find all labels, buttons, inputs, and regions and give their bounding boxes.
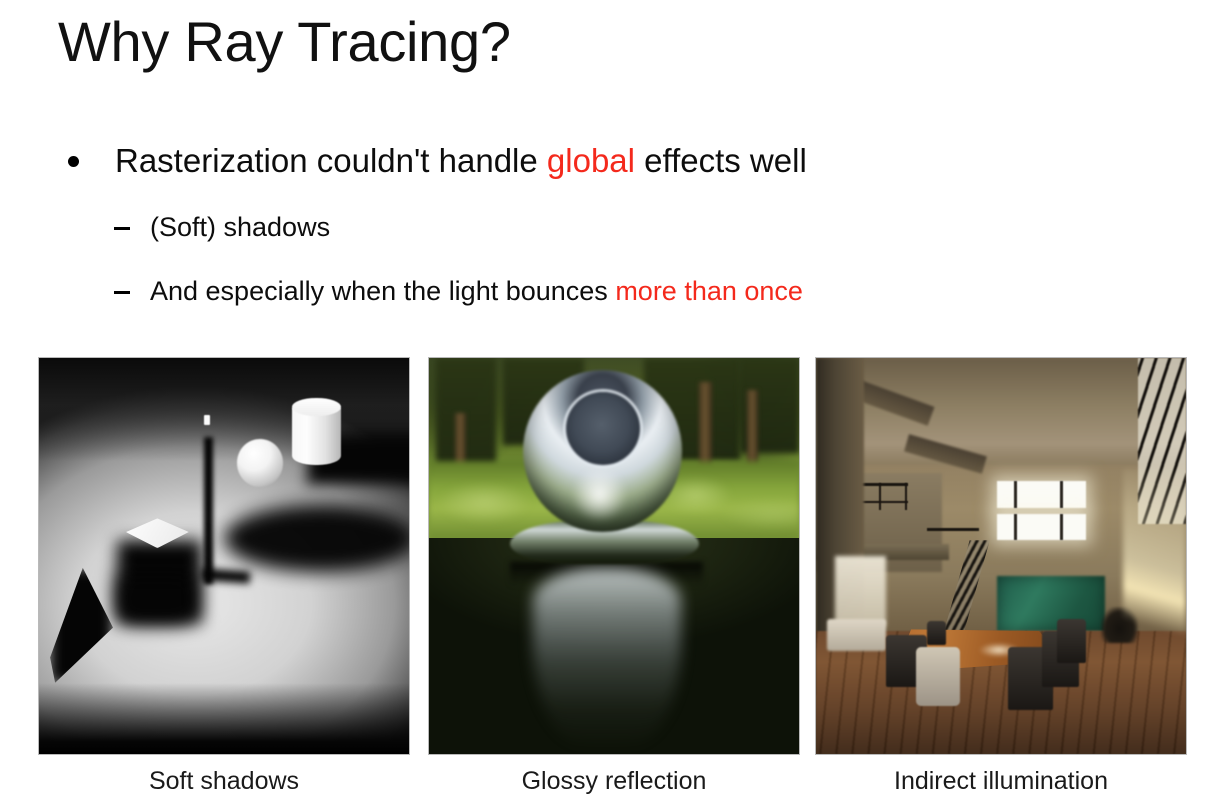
figure-caption: Indirect illumination: [815, 767, 1187, 796]
cylinder-top-face: [292, 398, 340, 416]
sphere-object: [237, 439, 283, 487]
scene-vignette-bottom: [39, 683, 409, 754]
bullet-list: Rasterization couldn't handle global eff…: [0, 140, 1224, 309]
bullet-text-after: effects well: [635, 142, 807, 179]
sphere-porthole: [566, 392, 640, 465]
window-mullion: [1014, 481, 1017, 509]
page-title: Why Ray Tracing?: [58, 8, 511, 75]
figure-caption: Soft shadows: [38, 767, 410, 796]
window-mullion: [1014, 514, 1017, 540]
sub-bullet-text-before: (Soft) shadows: [150, 212, 330, 242]
sphere-shadow: [224, 505, 410, 572]
bullet-dot-icon: [68, 156, 79, 167]
sofa: [827, 619, 886, 651]
cylinder-object: [292, 408, 340, 465]
bullet-item-sub-2: And especially when the light bounces mo…: [0, 275, 1224, 309]
dash-marker-icon: [114, 227, 130, 230]
figure-indirect-illumination: Indirect illumination: [815, 357, 1187, 796]
bullet-item-sub-1: (Soft) shadows: [0, 211, 1224, 245]
figure-glossy-reflection: Glossy reflection: [428, 357, 800, 796]
figure-image-indirect-illumination: [815, 357, 1187, 755]
railing-post: [879, 483, 882, 511]
bullet-item-primary: Rasterization couldn't handle global eff…: [0, 140, 1224, 181]
post-shadow: [204, 437, 214, 584]
figure-caption: Glossy reflection: [428, 767, 800, 796]
office-chair: [927, 621, 946, 645]
figure-image-soft-shadows: [38, 357, 410, 755]
tree-canopy: [436, 358, 495, 477]
sunlight-shaft: [1123, 469, 1186, 691]
curtain: [835, 556, 887, 627]
green-wall-panel: [997, 576, 1104, 631]
clerestory-window: [997, 481, 1086, 509]
sphere-reflection: [533, 568, 681, 750]
sub-bullet-text-before: And especially when the light bounces: [150, 276, 615, 306]
clerestory-window: [997, 514, 1086, 540]
concrete-ceiling: [816, 358, 1186, 465]
post-object: [204, 415, 210, 425]
figure-soft-shadows: Soft shadows: [38, 357, 410, 796]
office-chair: [916, 647, 960, 706]
window-mullion: [1060, 514, 1063, 540]
cube-shadow-soft: [117, 576, 195, 624]
office-chair: [1057, 619, 1087, 663]
figure-image-glossy-reflection: [428, 357, 800, 755]
dash-marker-icon: [114, 291, 130, 294]
railing-post: [905, 483, 908, 511]
sphere-highlight: [570, 469, 629, 520]
bullet-text-highlight: global: [547, 142, 635, 179]
upper-railing: [927, 528, 979, 531]
bullet-text-before: Rasterization couldn't handle: [115, 142, 547, 179]
sub-bullet-text-highlight: more than once: [615, 276, 803, 306]
window-mullion: [1060, 481, 1063, 509]
